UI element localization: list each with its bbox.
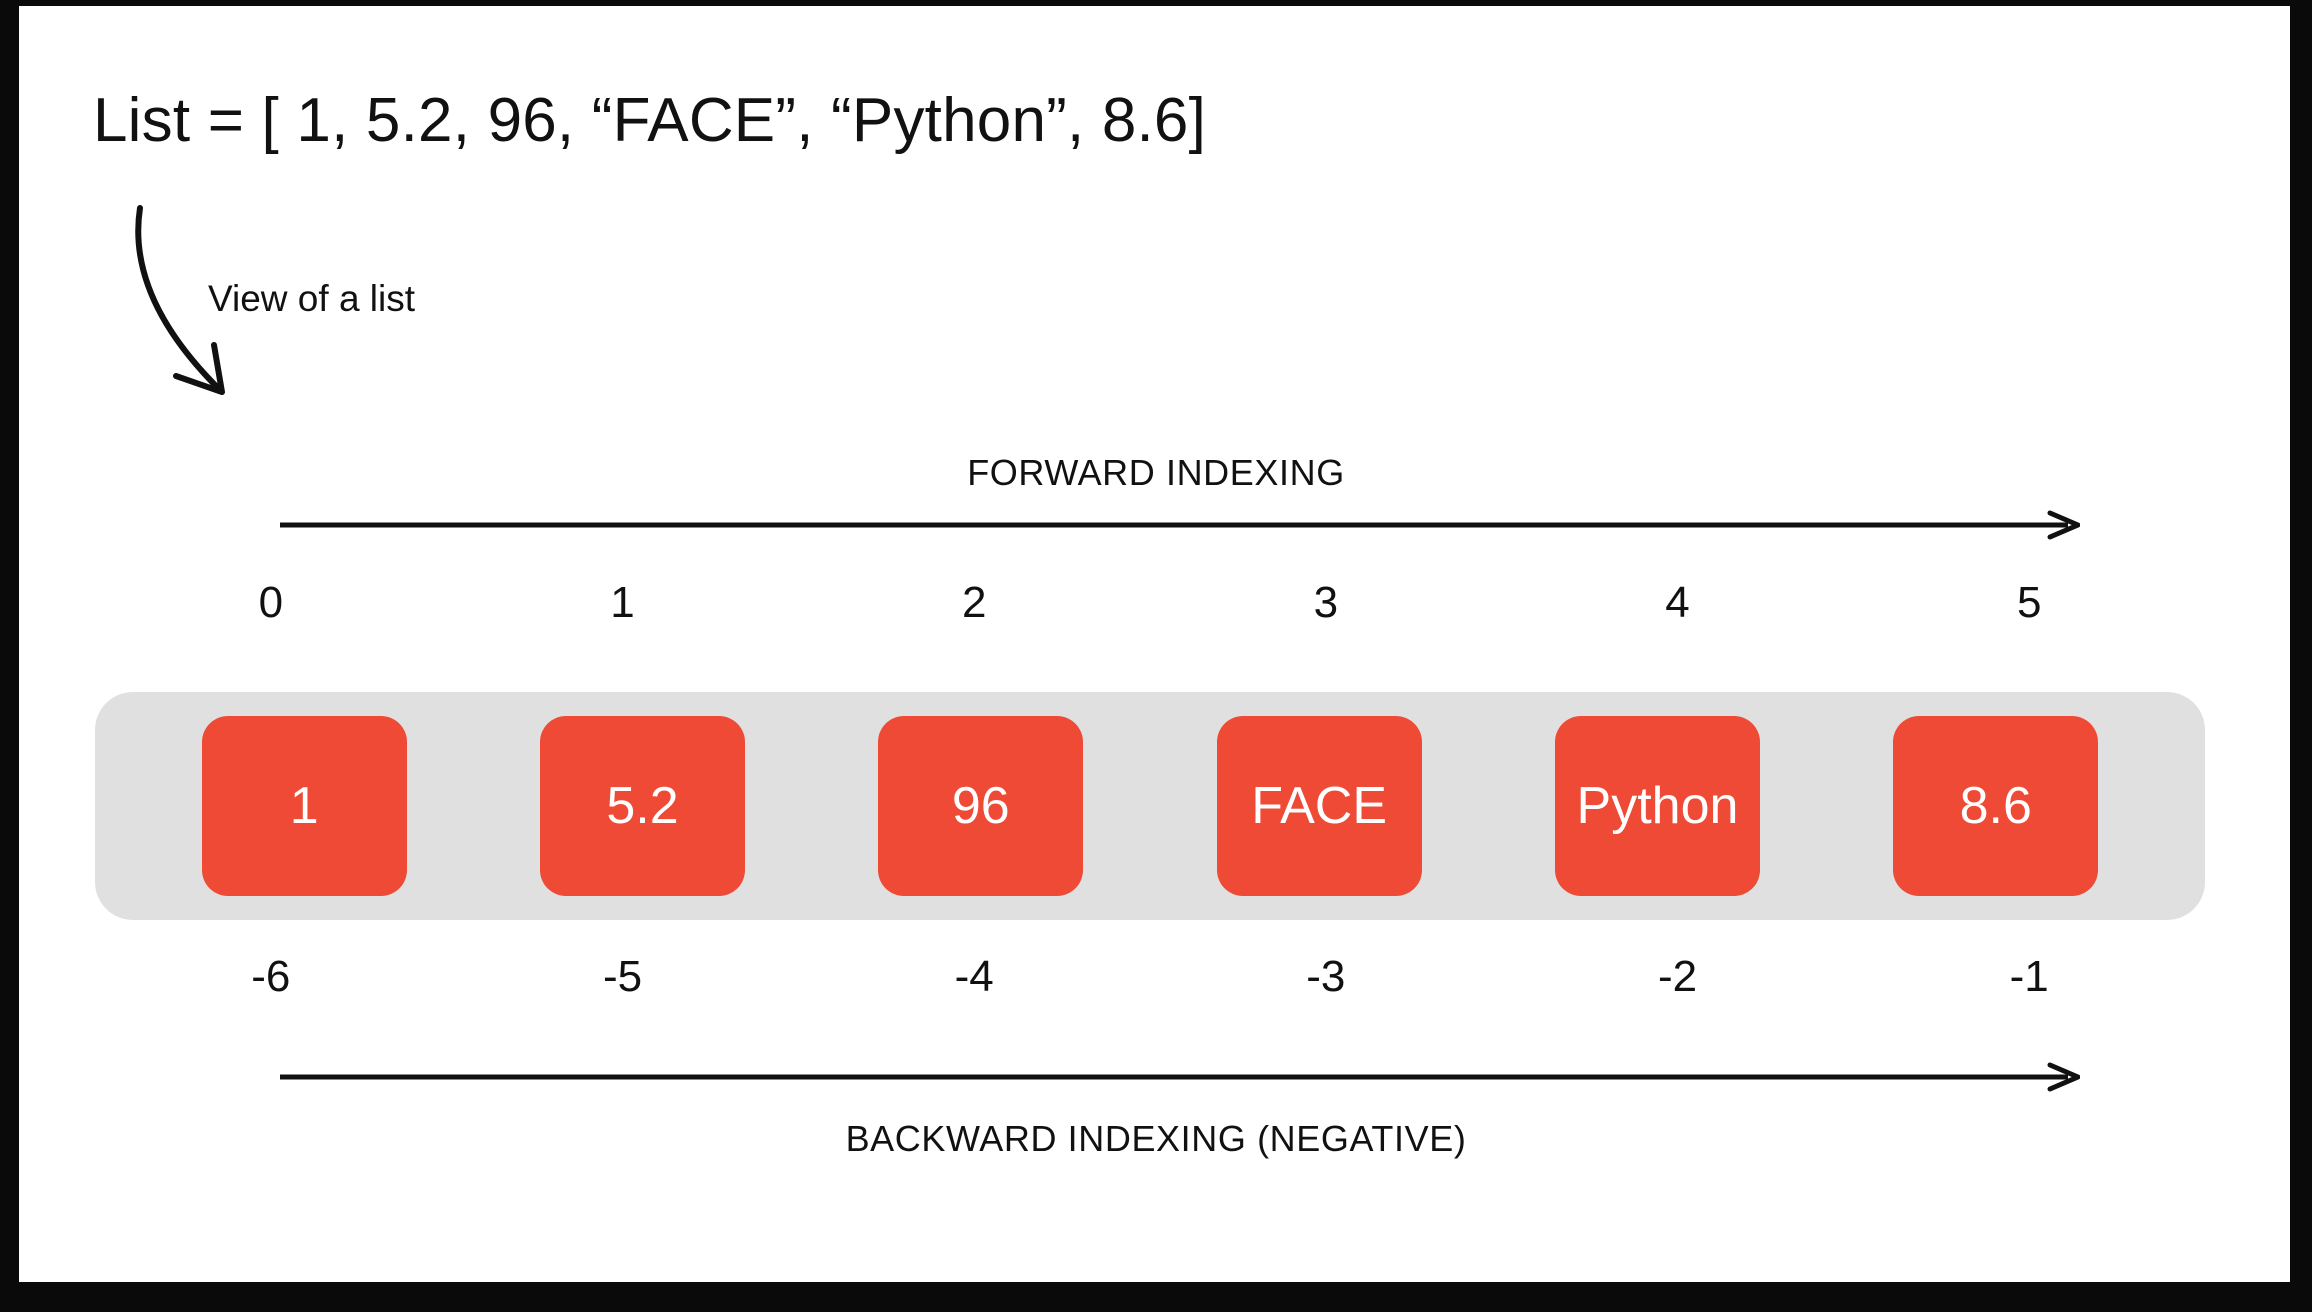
- negative-index-4: -2: [1502, 952, 1854, 1002]
- positive-index-0: 0: [95, 578, 447, 628]
- frame-bottom-edge: [0, 1282, 2312, 1312]
- positive-index-3: 3: [1150, 578, 1502, 628]
- list-cell: Python: [1488, 716, 1826, 896]
- forward-indexing-arrow-icon: [280, 510, 2080, 540]
- callout-label: View of a list: [208, 278, 415, 320]
- frame-left-edge: [0, 0, 19, 1312]
- list-item-5[interactable]: 8.6: [1893, 716, 2098, 896]
- slide-canvas: List = [ 1, 5.2, 96, “FACE”, “Python”, 8…: [0, 0, 2312, 1312]
- positive-index-5: 5: [1853, 578, 2205, 628]
- list-item-3[interactable]: FACE: [1217, 716, 1422, 896]
- frame-top-edge: [0, 0, 2312, 6]
- list-cell: 5.2: [473, 716, 811, 896]
- negative-index-1: -5: [447, 952, 799, 1002]
- backward-indexing-label: BACKWARD INDEXING (NEGATIVE): [0, 1118, 2312, 1160]
- positive-index-4: 4: [1502, 578, 1854, 628]
- backward-indexing-arrow-icon: [280, 1062, 2080, 1092]
- frame-right-edge: [2290, 0, 2312, 1312]
- forward-indexing-label: FORWARD INDEXING: [0, 452, 2312, 494]
- list-item-0[interactable]: 1: [202, 716, 407, 896]
- negative-index-5: -1: [1853, 952, 2205, 1002]
- positive-index-row: 0 1 2 3 4 5: [95, 578, 2205, 628]
- positive-index-2: 2: [798, 578, 1150, 628]
- list-cell: 96: [812, 716, 1150, 896]
- negative-index-row: -6 -5 -4 -3 -2 -1: [95, 952, 2205, 1002]
- negative-index-0: -6: [95, 952, 447, 1002]
- positive-index-1: 1: [447, 578, 799, 628]
- list-cell: 8.6: [1827, 716, 2165, 896]
- list-literal-title: List = [ 1, 5.2, 96, “FACE”, “Python”, 8…: [93, 88, 1206, 153]
- list-container: 1 5.2 96 FACE Python 8.6: [95, 692, 2205, 920]
- negative-index-3: -3: [1150, 952, 1502, 1002]
- list-item-1[interactable]: 5.2: [540, 716, 745, 896]
- list-item-2[interactable]: 96: [878, 716, 1083, 896]
- list-item-4[interactable]: Python: [1555, 716, 1760, 896]
- list-cell: 1: [135, 716, 473, 896]
- negative-index-2: -4: [798, 952, 1150, 1002]
- list-cell: FACE: [1150, 716, 1488, 896]
